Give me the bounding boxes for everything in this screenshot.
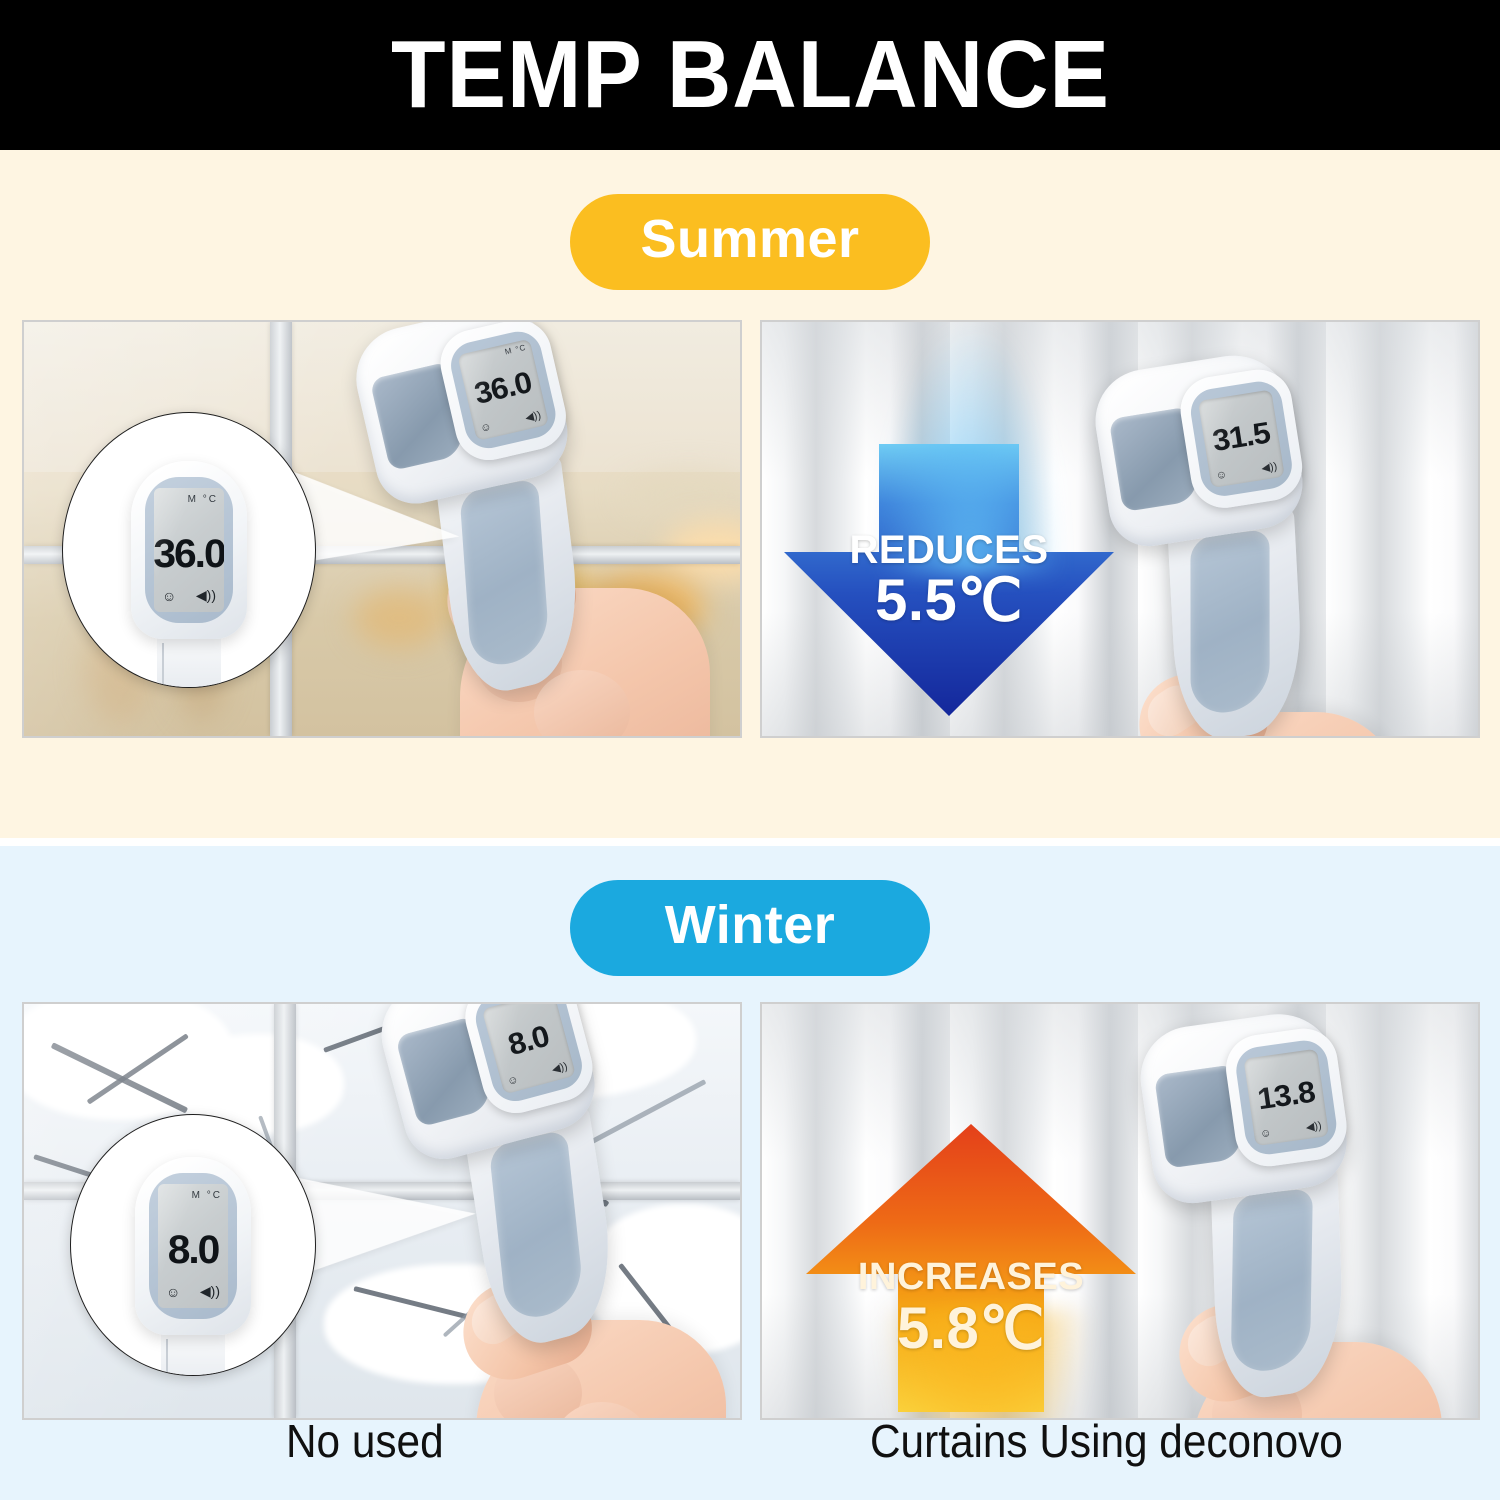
screen-bezel: 13.8 ☺ ◀)) [1222,1024,1351,1170]
summer-panel-row: M °C 36.0 ☺ ◀)) [22,320,1480,738]
thermometer-grip-pad [459,478,550,671]
mini-lcd-units-label: M °C [188,494,218,505]
lcd-display: 31.5 ☺ ◀)) [1198,390,1285,488]
arrow-label-reduces: REDUCES [784,530,1114,570]
magnifier-circle: M °C 8.0 ☺ ◀)) [70,1114,316,1376]
beach-blur-7 [624,472,742,518]
screen-bezel: 31.5 ☺ ◀)) [1176,365,1307,513]
lcd-display: 13.8 ☺ ◀)) [1244,1049,1330,1146]
lcd-display: 8.0 ☺ ◀)) [482,1002,576,1094]
screen-inner: 8.0 ☺ ◀)) [470,1002,587,1106]
mini-lcd-display: M °C 36.0 ☺ ◀)) [154,488,224,612]
caption-winter-curtains: Curtains Using deconovo [870,1414,1343,1468]
speaker-icon: ◀)) [550,1059,569,1076]
lcd-reading: 13.8 [1245,1074,1327,1118]
header-bar: TEMP BALANCE [0,0,1500,150]
mini-screen-bezel: M °C 8.0 ☺ ◀)) [149,1173,237,1319]
mini-stem-seam [162,643,164,688]
sad-face-icon: ☺ [506,1074,520,1088]
mini-lcd-display: M °C 8.0 ☺ ◀)) [158,1184,228,1308]
panel-winter-no-used[interactable]: 8.0 ☺ ◀)) [22,1002,742,1420]
winter-panel-row: 8.0 ☺ ◀)) [22,1002,1480,1420]
thermometer-grip-pad [1190,529,1269,717]
mini-sad-face-icon: ☺ [162,588,176,604]
sad-face-icon: ☺ [1215,469,1228,483]
sad-face-icon: ☺ [1259,1127,1272,1140]
panel-winter-curtains[interactable]: INCREASES 5.8℃ [760,1002,1480,1420]
page-title: TEMP BALANCE [391,27,1110,123]
lcd-reading: 8.0 [487,1015,571,1068]
arrow-value-reduces: 5.5℃ [784,572,1114,630]
increases-arrow-group: INCREASES 5.8℃ [806,1124,1136,1412]
speaker-icon: ◀)) [524,408,542,424]
screen-inner: 31.5 ☺ ◀)) [1188,378,1296,499]
mini-sad-face-icon: ☺ [166,1284,180,1300]
mini-thermometer-stem [161,1329,225,1376]
mini-speaker-icon: ◀)) [200,1283,220,1300]
lcd-reading: 36.0 [461,364,544,415]
mini-speaker-icon: ◀)) [196,587,216,604]
temp-balance-infographic: TEMP BALANCE Summer [0,0,1500,1500]
summer-section: Summer [0,150,1500,842]
lcd-units-label: M °C [504,343,527,357]
speaker-icon: ◀)) [1305,1119,1322,1134]
summer-badge-wrap: Summer [0,194,1500,290]
mini-lcd-units-label: M °C [192,1190,222,1201]
reduces-arrow-group: REDUCES 5.5℃ [784,444,1114,716]
mini-lcd-reading: 8.0 [158,1228,228,1273]
season-badge-winter[interactable]: Winter [570,880,930,976]
mini-thermometer-stem [157,633,221,688]
season-badge-summer[interactable]: Summer [570,194,930,290]
lcd-display: M °C 36.0 ☺ ◀)) [457,339,549,441]
thermometer-grip-pad [1231,1188,1313,1374]
panel-summer-no-used[interactable]: M °C 36.0 ☺ ◀)) [22,320,742,738]
winter-badge-wrap: Winter [0,880,1500,976]
speaker-icon: ◀)) [1260,460,1278,475]
screen-inner: 13.8 ☺ ◀)) [1233,1038,1339,1158]
lcd-reading: 31.5 [1200,415,1282,461]
mini-stem-seam [166,1339,168,1376]
arrow-label-increases: INCREASES [806,1258,1136,1296]
magnifier-circle: M °C 36.0 ☺ ◀)) [62,412,316,688]
mini-lcd-reading: 36.0 [154,532,224,577]
mini-screen-bezel: M °C 36.0 ☺ ◀)) [145,477,233,623]
winter-section: Winter [0,846,1500,1500]
sad-face-icon: ☺ [479,421,493,435]
screen-inner: M °C 36.0 ☺ ◀)) [446,327,560,453]
panel-summer-curtains[interactable]: REDUCES 5.5℃ [760,320,1480,738]
caption-winter-no-used: No used [286,1414,444,1468]
arrow-value-increases: 5.8℃ [806,1300,1136,1358]
